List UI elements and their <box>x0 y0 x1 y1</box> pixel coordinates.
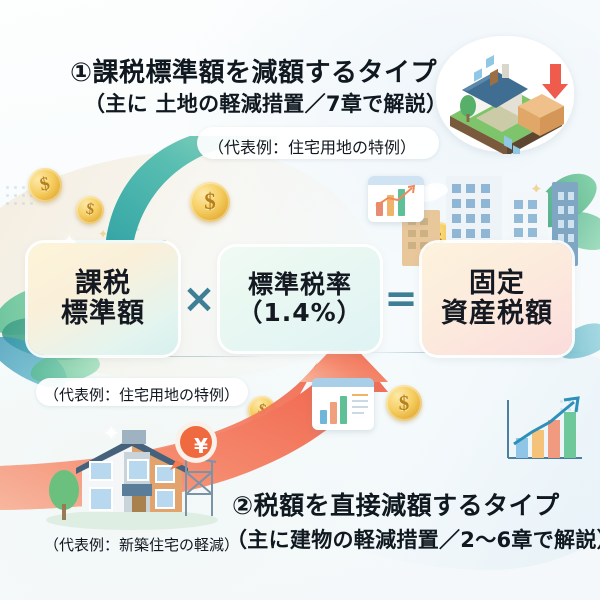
bottom-example-label: （代表例：新築住宅の軽減） <box>44 534 239 555</box>
coin-symbol: $ <box>399 391 410 416</box>
bar-chart-card-icon <box>368 176 424 222</box>
top-example-label: （代表例：住宅用地の特例） <box>208 134 416 158</box>
term3-line1: 固定 <box>469 269 525 299</box>
gold-coin-dollar-icon: $ <box>190 182 230 222</box>
sparkle-icon: ✦ <box>530 182 543 197</box>
sparkle-icon: ✦ <box>103 424 120 444</box>
term1-line2: 標準額 <box>61 299 145 329</box>
term3-line2: 資産税額 <box>441 299 553 329</box>
coin-symbol: $ <box>38 173 52 196</box>
dot-pattern <box>560 400 579 411</box>
house-illustration-bubble <box>436 36 574 152</box>
middle-example-label: （代表例：住宅用地の特例） <box>44 384 239 405</box>
term2-line1: 標準税率 <box>248 271 352 299</box>
coin-symbol: $ <box>85 201 95 220</box>
bar-chart-browser-card-icon <box>312 378 374 430</box>
coin-symbol: $ <box>271 418 280 435</box>
formula-term-tax-rate: 標準税率 （1.4%） <box>220 247 380 351</box>
equals-operator: = <box>380 276 422 322</box>
formula-term-property-tax: 固定 資産税額 <box>422 243 572 355</box>
yen-symbol: ¥ <box>185 430 217 462</box>
coin-symbol: $ <box>256 401 267 419</box>
multiply-operator: × <box>178 276 220 322</box>
top-heading: ①課税標準額を減額するタイプ <box>70 52 437 89</box>
coin-symbol: $ <box>204 189 216 215</box>
infographic-canvas: ✦ ✦ ✦ ✦ ✦ $ $ $ $ $ $ $ <box>0 0 600 600</box>
bottom-heading: ②税額を直接減額するタイプ <box>232 486 560 522</box>
gold-coin-dollar-icon: $ <box>386 385 422 421</box>
term1-line1: 課税 <box>75 269 131 299</box>
bottom-subheading: （主に建物の軽減措置／2～6章で解説） <box>226 524 600 554</box>
tax-formula: 課税 標準額 × 標準税率 （1.4%） = 固定 資産税額 <box>0 238 600 360</box>
top-subheading: （主に 土地の軽減措置／7章で解説） <box>84 88 447 118</box>
dot-pattern <box>120 212 139 231</box>
formula-term-taxable-base: 課税 標準額 <box>28 243 178 355</box>
term2-line2: （1.4%） <box>237 299 362 327</box>
